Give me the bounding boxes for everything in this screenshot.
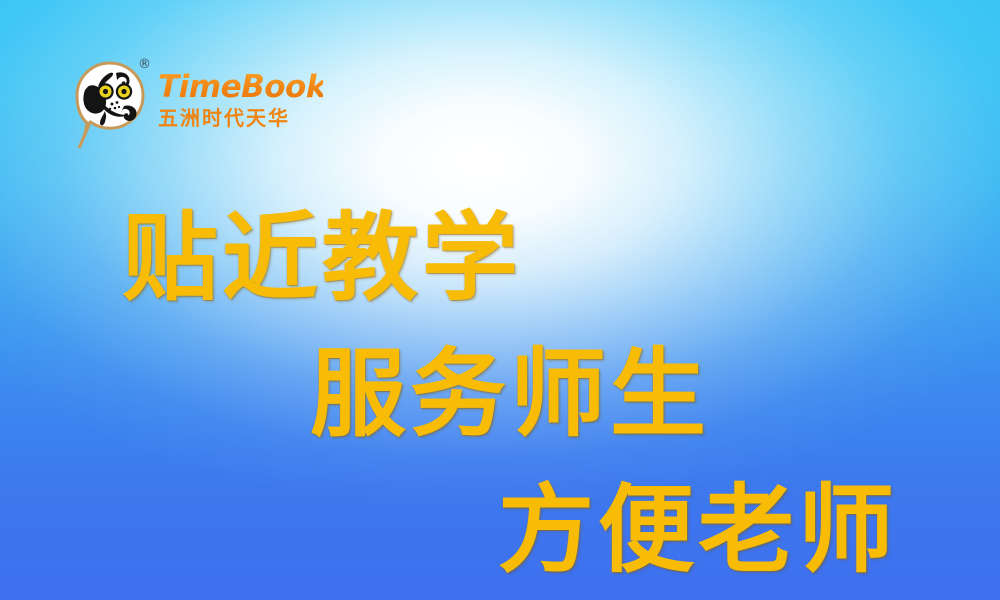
slogan-line-3: 方便老师 bbox=[498, 478, 898, 582]
timebook-dog-speech-bubble-logo-icon bbox=[72, 60, 148, 152]
registered-trademark-icon: ® bbox=[138, 58, 151, 71]
logo-text-block: TimeBook 五洲时代天华 bbox=[158, 70, 323, 130]
logo-chinese-name: 五洲时代天华 bbox=[158, 107, 323, 130]
promo-slide: ® TimeBook 五洲时代天华 贴近教学 服务师生 方便老师 bbox=[0, 0, 1000, 600]
slogan-line-2: 服务师生 bbox=[310, 342, 710, 446]
logo-wordmark: TimeBook bbox=[158, 70, 323, 104]
timebook-logo: ® TimeBook 五洲时代天华 bbox=[72, 58, 322, 158]
slogan-line-1: 贴近教学 bbox=[122, 206, 522, 310]
